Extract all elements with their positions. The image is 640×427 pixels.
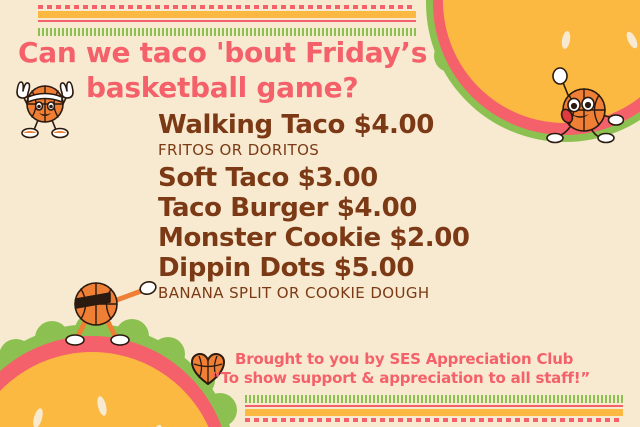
menu-list: Walking Taco $4.00 FRITOS OR DORITOS Sof…	[158, 110, 558, 306]
footer-text: Brought to you by SES Appreciation Club …	[235, 350, 590, 388]
menu-item-label: Soft Taco $3.00	[158, 163, 558, 193]
menu-item-label: Dippin Dots $5.00	[158, 253, 558, 283]
footer-line-1: Brought to you by SES Appreciation Club	[235, 350, 590, 369]
headline-line-1: Can we taco 'bout Friday’s	[18, 36, 448, 71]
basketball-mascot-peace-icon	[14, 68, 76, 140]
basketball-mascot-dabbing-icon	[62, 268, 158, 354]
poster-headline: Can we taco 'bout Friday’s basketball ga…	[18, 36, 448, 105]
menu-item-label: Monster Cookie $2.00	[158, 223, 558, 253]
dashed-red-stripe	[38, 5, 416, 9]
headline-line-2: basketball game?	[86, 71, 448, 106]
menu-item-note: FRITOS OR DORITOS	[158, 141, 558, 161]
solid-orange-stripe	[245, 409, 623, 416]
poster-canvas: Can we taco 'bout Friday’s basketball ga…	[0, 0, 640, 427]
menu-item-note: BANANA SPLIT OR COOKIE DOUGH	[158, 284, 558, 304]
dashed-red-stripe	[245, 418, 623, 422]
solid-orange-stripe	[38, 11, 416, 18]
poster-footer: Brought to you by SES Appreciation Club …	[190, 350, 630, 388]
striped-green-stripe	[245, 395, 623, 403]
thin-red-stripe	[245, 405, 623, 407]
menu-item-label: Walking Taco $4.00	[158, 110, 558, 140]
footer-line-2: “To show support & appreciation to all s…	[211, 369, 590, 388]
band-spacer	[38, 24, 416, 26]
striped-green-stripe	[38, 28, 416, 36]
menu-item-label: Taco Burger $4.00	[158, 193, 558, 223]
decorative-band-top	[38, 5, 416, 36]
decorative-band-bottom	[245, 395, 623, 422]
thin-red-stripe	[38, 20, 416, 22]
